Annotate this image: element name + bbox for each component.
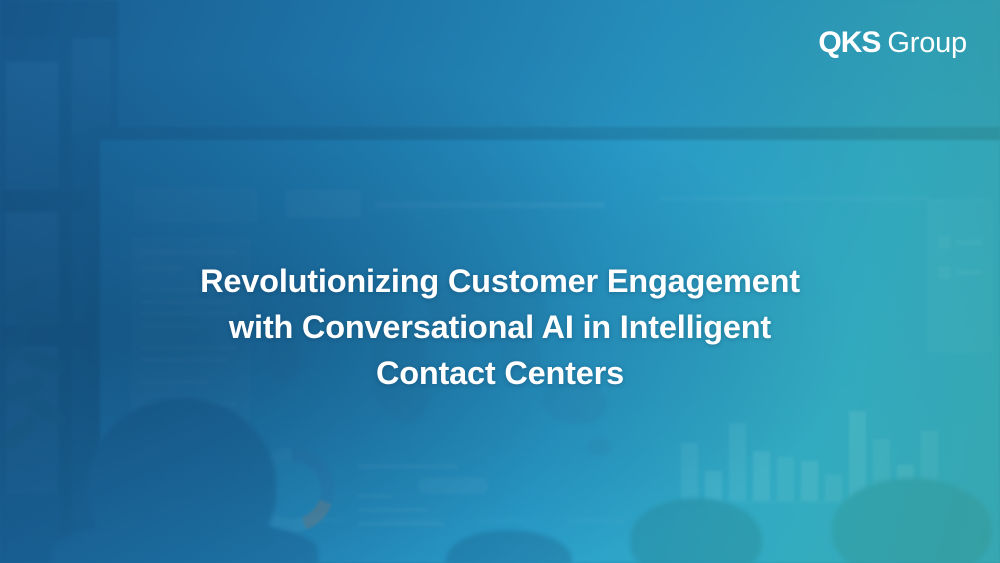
- page-title: Revolutionizing Customer Engagement with…: [0, 258, 1000, 396]
- title-line-2: with Conversational AI in Intelligent: [120, 304, 880, 350]
- promotional-banner: QKS Group Revolutionizing Customer Engag…: [0, 0, 1000, 563]
- title-line-3: Contact Centers: [120, 350, 880, 396]
- logo-group-text: Group: [887, 27, 967, 60]
- title-line-1: Revolutionizing Customer Engagement: [120, 258, 880, 304]
- banner-content: QKS Group Revolutionizing Customer Engag…: [0, 0, 1000, 563]
- qks-group-logo: QKS Group: [818, 26, 967, 60]
- logo-qks-text: QKS: [818, 26, 880, 60]
